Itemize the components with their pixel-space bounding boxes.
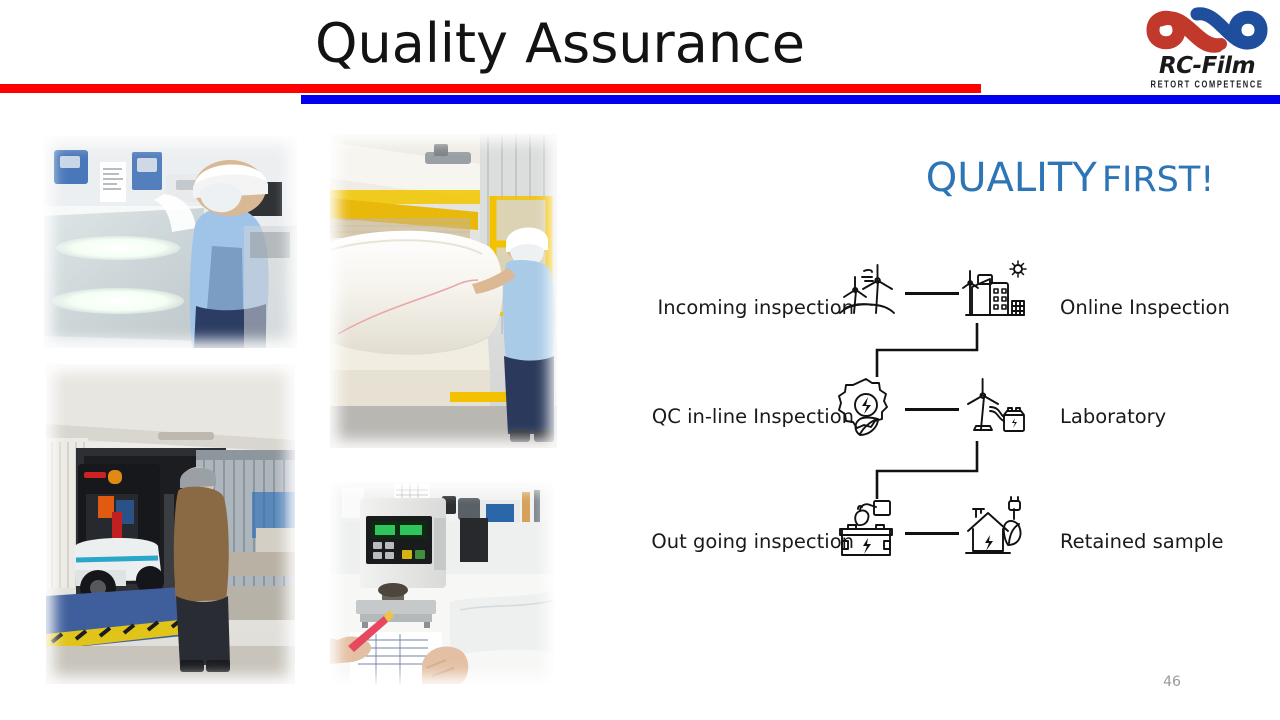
logo-tagline: RETORT COMPETENCE	[1139, 78, 1275, 90]
diagram-connector-row3	[905, 532, 959, 535]
photo-2-image	[330, 134, 557, 448]
headline-word-first: FIRST!	[1102, 160, 1214, 200]
diagram-connector-row1-to-row2	[860, 323, 1010, 377]
quality-first-headline: QUALITY FIRST!	[900, 155, 1240, 211]
diagram-label-qc-inline-inspection: QC in-line Inspection	[602, 402, 854, 432]
diagram-label-incoming-inspection: Incoming inspection	[608, 293, 854, 323]
page-number: 46	[1142, 674, 1202, 690]
diagram-label-retained-sample: Retained sample	[1060, 527, 1280, 557]
headline-word-quality: QUALITY	[926, 155, 1097, 201]
logo-wordmark: RC-Film	[1139, 54, 1275, 79]
slide-root: Quality Assurance RC-Film RETORT COMPETE…	[0, 0, 1280, 720]
photo-forklift-container-loading	[46, 364, 295, 684]
divider-red	[0, 84, 981, 93]
photo-film-roll-machine	[330, 134, 557, 448]
diagram-label-laboratory: Laboratory	[1060, 402, 1280, 432]
photo-3-image	[46, 364, 295, 684]
diagram-connector-row1	[905, 292, 959, 295]
diagram-connector-row2	[905, 408, 959, 411]
diagram-label-out-going-inspection: Out going inspection	[604, 527, 854, 557]
diagram-label-online-inspection: Online Inspection	[1060, 293, 1280, 323]
photo-film-lightbox-inspection	[44, 136, 297, 348]
divider-blue	[301, 95, 1280, 104]
factory-solar-icon	[960, 257, 1028, 325]
diagram-connector-row2-to-row3	[860, 441, 1010, 499]
quality-process-diagram: Incoming inspection Online Inspection	[560, 245, 1260, 585]
page-title: Quality Assurance	[0, 8, 1120, 80]
wind-turbines-icon	[832, 257, 900, 325]
rc-film-logo: RC-Film RETORT COMPETENCE	[1139, 2, 1275, 94]
eco-house-plug-icon	[960, 495, 1028, 563]
photo-1-image	[44, 136, 297, 348]
gear-leaf-energy-icon	[832, 373, 900, 441]
photo-4-image	[330, 482, 554, 684]
turbine-battery-icon	[960, 373, 1028, 441]
photo-thickness-gauge-lab	[330, 482, 554, 684]
hand-battery-icon	[832, 495, 900, 563]
infinity-symbol-icon	[1139, 2, 1275, 58]
observer	[174, 467, 230, 672]
